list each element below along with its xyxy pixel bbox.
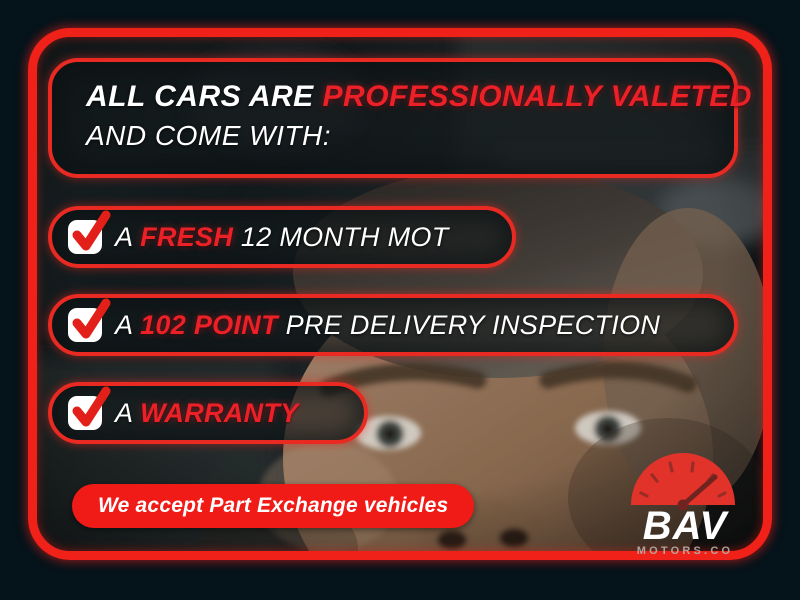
feature-emphasis: 102 POINT: [140, 310, 278, 340]
feature-emphasis: FRESH: [140, 222, 233, 252]
feature-label: A WARRANTY: [115, 398, 299, 429]
part-exchange-label: We accept Part Exchange vehicles: [98, 494, 448, 518]
checkbox-checked-icon: [68, 308, 102, 342]
feature-suffix: 12 MONTH MOT: [233, 222, 448, 252]
checkbox-checked-icon: [68, 396, 102, 430]
part-exchange-badge: We accept Part Exchange vehicles: [72, 484, 474, 528]
logo-wordmark: BAV: [643, 504, 730, 548]
headline-line-1-emphasis: PROFESSIONALLY VALETED: [323, 80, 752, 113]
feature-emphasis: WARRANTY: [140, 398, 298, 428]
feature-prefix: A: [115, 310, 140, 340]
check-mark-glyph: [70, 389, 110, 433]
feature-row: A 102 POINT PRE DELIVERY INSPECTION: [48, 294, 738, 356]
headline-line-1-prefix: ALL CARS ARE: [86, 80, 323, 113]
headline-line-2: AND COME WITH:: [86, 117, 734, 155]
feature-suffix: PRE DELIVERY INSPECTION: [278, 310, 660, 340]
logo-art: BAV MOTORS.CO: [603, 447, 768, 559]
feature-label: A FRESH 12 MONTH MOT: [115, 222, 449, 253]
headline-panel: ALL CARS ARE PROFESSIONALLY VALETED AND …: [48, 58, 738, 178]
check-mark-glyph: [70, 301, 110, 345]
feature-row: A WARRANTY: [48, 382, 368, 444]
check-mark-glyph: [70, 213, 110, 257]
speedometer-gauge-icon: [631, 453, 735, 511]
feature-prefix: A: [115, 398, 140, 428]
bav-motors-logo: BAV MOTORS.CO: [603, 447, 768, 559]
headline-line-1: ALL CARS ARE PROFESSIONALLY VALETED: [86, 79, 734, 115]
feature-prefix: A: [115, 222, 140, 252]
feature-label: A 102 POINT PRE DELIVERY INSPECTION: [115, 310, 660, 341]
feature-row: A FRESH 12 MONTH MOT: [48, 206, 516, 268]
logo-tagline: MOTORS.CO: [637, 545, 733, 557]
promo-poster: ALL CARS ARE PROFESSIONALLY VALETED AND …: [0, 0, 800, 600]
checkbox-checked-icon: [68, 220, 102, 254]
